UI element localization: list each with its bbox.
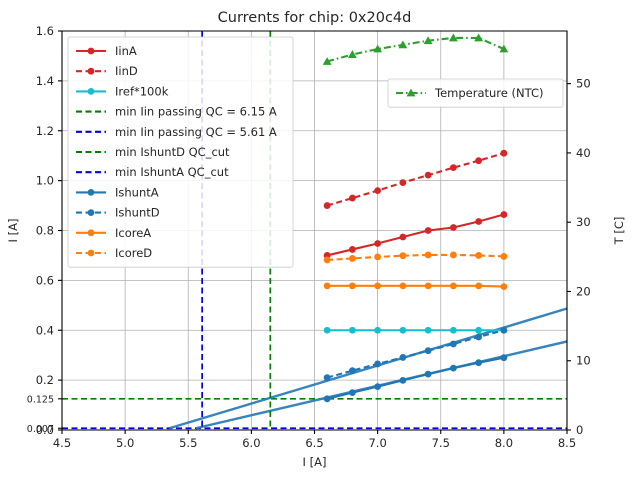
series-marker: [500, 327, 507, 334]
series-marker: [500, 283, 507, 290]
chart-canvas: Currents for chip: 0x20c4d4.55.05.56.06.…: [0, 0, 640, 480]
matplotlib-figure: Currents for chip: 0x20c4d4.55.05.56.06.…: [0, 0, 640, 480]
y-ticklabel: 0.8: [36, 224, 54, 238]
series-marker: [475, 218, 482, 225]
series-marker: [500, 211, 507, 218]
series-marker: [475, 252, 482, 259]
legend-currents-label[interactable]: min Iin passing QC = 6.15 A: [115, 105, 277, 119]
x-ticklabel: 4.5: [53, 436, 71, 450]
x-ticklabel: 7.5: [432, 436, 450, 450]
series-marker: [324, 202, 331, 209]
series-marker: [324, 327, 331, 334]
y2-ticklabel: 0: [576, 423, 583, 437]
series-marker: [475, 334, 482, 341]
series-marker: [349, 255, 356, 262]
series-marker: [425, 371, 432, 378]
series-marker: [374, 282, 381, 289]
legend-currents-marker: [88, 209, 95, 216]
y2-ticklabel: 50: [576, 77, 591, 91]
y2-ticklabel: 20: [576, 284, 591, 298]
legend-currents-label[interactable]: IcoreA: [115, 226, 151, 240]
y-ticklabel: 1.0: [36, 174, 54, 188]
legend-currents-marker: [88, 88, 95, 95]
fit-line: [169, 309, 567, 429]
series-marker: [374, 361, 381, 368]
series-marker: [399, 179, 406, 186]
series-marker: [349, 389, 356, 396]
y-ticklabel: 1.4: [36, 74, 54, 88]
series-marker: [374, 327, 381, 334]
y-axis-label: I [A]: [6, 219, 20, 243]
series-marker: [374, 254, 381, 261]
series-marker: [349, 282, 356, 289]
series-marker: [324, 374, 331, 381]
legend-currents-marker: [88, 48, 95, 55]
legend-currents-label[interactable]: IinD: [115, 64, 138, 78]
legend-currents-marker: [88, 68, 95, 75]
series-marker: [450, 252, 457, 259]
x-ticklabel: 5.0: [116, 436, 134, 450]
series-marker: [349, 195, 356, 202]
y2-ticklabel: 30: [576, 215, 591, 229]
series-marker: [399, 354, 406, 361]
y-ticklabel-extra: 0.125: [27, 394, 54, 405]
series-marker: [324, 257, 331, 264]
series-marker: [450, 365, 457, 372]
series-marker: [450, 282, 457, 289]
series-marker: [450, 224, 457, 231]
series-marker: [500, 354, 507, 361]
series-marker: [425, 327, 432, 334]
series-marker: [475, 327, 482, 334]
series-marker: [399, 377, 406, 384]
legend-currents-marker: [88, 229, 95, 236]
series-marker: [425, 252, 432, 259]
y-ticklabel: 0.4: [36, 323, 54, 337]
legend-currents-label[interactable]: IcoreD: [115, 246, 152, 260]
series-marker: [425, 347, 432, 354]
x-ticklabel: 7.0: [368, 436, 386, 450]
series-marker: [324, 282, 331, 289]
series-marker: [349, 246, 356, 253]
series-marker: [450, 327, 457, 334]
x-ticklabel: 8.0: [495, 436, 513, 450]
series-marker: [374, 383, 381, 390]
x-ticklabel: 6.0: [242, 436, 260, 450]
series-marker: [399, 252, 406, 259]
series-marker: [500, 150, 507, 157]
chart-title: Currents for chip: 0x20c4d: [218, 10, 412, 26]
series-marker: [450, 164, 457, 171]
y-ticklabel: 1.2: [36, 124, 54, 138]
y-ticklabel: 1.6: [36, 24, 54, 38]
series-marker: [349, 367, 356, 374]
series-marker: [475, 282, 482, 289]
series-marker: [425, 172, 432, 179]
series-marker: [425, 282, 432, 289]
legend-currents-marker: [88, 189, 95, 196]
x-axis-label: I [A]: [303, 455, 327, 469]
legend-currents-label[interactable]: IshuntD: [115, 206, 160, 220]
legend-currents-label[interactable]: min Iin passing QC = 5.61 A: [115, 125, 277, 139]
series-marker: [324, 395, 331, 402]
series-marker: [374, 187, 381, 194]
y2-ticklabel: 10: [576, 354, 591, 368]
series-marker: [399, 327, 406, 334]
series-marker: [425, 227, 432, 234]
series-marker: [374, 240, 381, 247]
series-marker: [475, 359, 482, 366]
series-marker: [475, 157, 482, 164]
x-ticklabel: 8.5: [558, 436, 576, 450]
legend-currents-label[interactable]: min IshuntA QC_cut: [115, 165, 229, 179]
x-ticklabel: 5.5: [179, 436, 197, 450]
series-marker: [500, 253, 507, 260]
legend-currents-label[interactable]: IshuntA: [115, 185, 159, 199]
y-ticklabel: 0.6: [36, 273, 54, 287]
series-marker: [399, 234, 406, 241]
y2-axis-label: T [C]: [612, 217, 626, 246]
x-ticklabel: 6.5: [305, 436, 323, 450]
legend-temperature-label[interactable]: Temperature (NTC): [434, 86, 543, 100]
legend-currents-marker: [88, 250, 95, 257]
legend-currents-label[interactable]: Iref*100k: [115, 84, 169, 98]
y2-ticklabel: 40: [576, 146, 591, 160]
legend-currents-label[interactable]: min IshuntD QC_cut: [115, 145, 230, 159]
y-ticklabel-extra: 0.007: [27, 424, 54, 435]
series-marker: [399, 282, 406, 289]
series-marker: [349, 327, 356, 334]
legend-currents-label[interactable]: IinA: [115, 44, 137, 58]
series-marker: [450, 341, 457, 348]
y-ticklabel: 0.2: [36, 373, 54, 387]
